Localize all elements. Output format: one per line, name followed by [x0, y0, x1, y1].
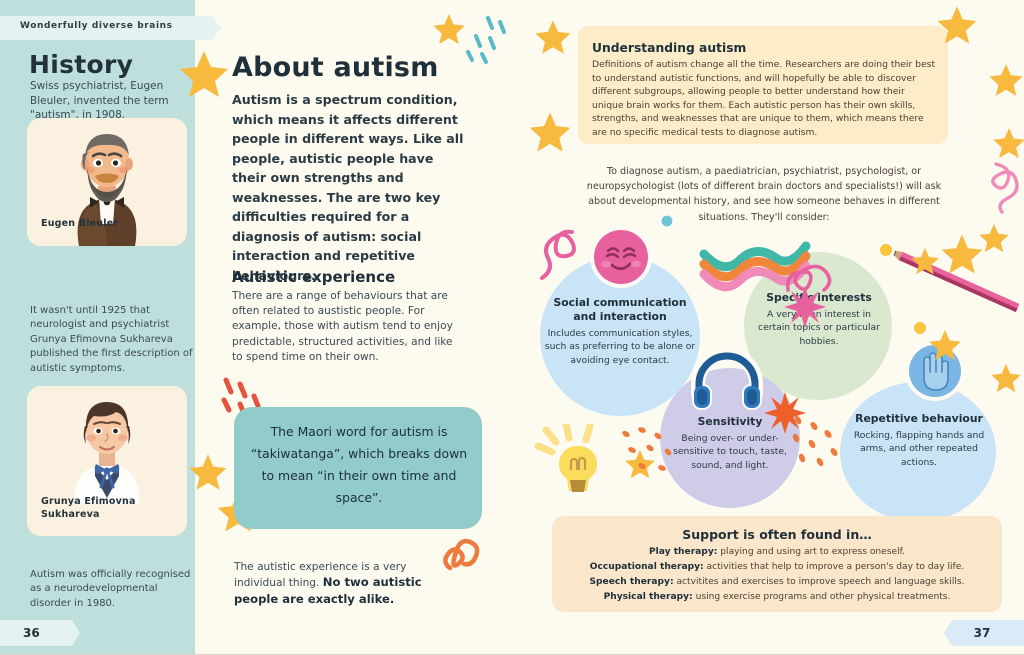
bubble-description: Includes communication styles, such as p… — [544, 327, 696, 367]
star-icon — [936, 4, 978, 46]
support-item-text: activities that help to improve a person… — [704, 562, 965, 572]
maori-quote-text: The Maori word for autism is “takiwatang… — [250, 421, 468, 509]
support-item-label: Physical therapy: — [604, 592, 693, 602]
starburst-decoration — [784, 286, 826, 328]
portrait-name-sukhareva: Grunya Efimovna Sukhareva — [41, 496, 187, 521]
about-heading-bold: autism — [334, 52, 439, 83]
headphones-icon — [690, 350, 764, 412]
squiggle-decoration — [986, 160, 1024, 214]
support-item-text: using exercise programs and other physic… — [693, 592, 951, 602]
support-item-label: Play therapy: — [649, 547, 717, 557]
about-heading-plain: About — [232, 52, 334, 83]
support-item: Occupational therapy: activities that he… — [552, 561, 1002, 574]
dot-sticker-decoration — [658, 212, 676, 230]
dot-sticker-decoration — [876, 240, 896, 260]
page-number-right: 37 — [952, 620, 1024, 646]
bubble-social-communication-text: Social communication and interaction Inc… — [544, 296, 696, 367]
star-icon — [188, 452, 228, 492]
portrait-name-bleuler: Eugen Bleuler — [41, 218, 118, 231]
support-item: Speech therapy: actvitites and exercises… — [552, 576, 1002, 589]
understanding-autism-text: Definitions of autism change all the tim… — [592, 58, 936, 140]
history-lead-text: Swiss psychiatrist, Eugen Bleuler, inven… — [30, 79, 195, 123]
portrait-card-sukhareva: Grunya Efimovna Sukhareva — [27, 386, 187, 536]
star-icon — [534, 18, 572, 56]
star-icon — [978, 222, 1010, 254]
portrait-card-bleuler: Eugen Bleuler — [27, 118, 187, 246]
support-item-label: Speech therapy: — [589, 577, 673, 587]
left-page: Wonderfully diverse brains History Swiss… — [0, 0, 512, 655]
squiggle-decoration — [524, 226, 584, 284]
star-icon — [988, 62, 1024, 98]
confetti-seeds-decoration — [788, 412, 868, 492]
right-page: Understanding autism Definitions of auti… — [512, 0, 1024, 655]
star-icon — [910, 246, 940, 276]
star-icon — [992, 126, 1024, 160]
dot-sticker-decoration — [910, 318, 930, 338]
support-item-text: playing and using art to express oneself… — [717, 547, 905, 557]
support-item: Physical therapy: using exercise program… — [552, 591, 1002, 604]
smiling-face-icon — [588, 224, 654, 290]
support-item-label: Occupational therapy: — [590, 562, 704, 572]
book-spread: Wonderfully diverse brains History Swiss… — [0, 0, 1024, 655]
understanding-autism-heading: Understanding autism — [592, 41, 746, 55]
page-number-left: 36 — [0, 620, 72, 646]
diagnosis-paragraph: To diagnose autism, a paediatrician, psy… — [580, 164, 948, 225]
about-body-text: Autism is a spectrum condition, which me… — [232, 90, 464, 285]
lightbulb-icon — [532, 424, 624, 516]
history-heading: History — [29, 50, 133, 79]
star-icon — [528, 110, 572, 154]
confetti-seeds-decoration — [616, 424, 686, 494]
support-item: Play therapy: playing and using art to e… — [552, 546, 1002, 559]
support-item-text: actvitites and exercises to improve spee… — [674, 577, 965, 587]
star-icon — [178, 48, 230, 100]
history-paragraph-3: Autism was officially recognised as a ne… — [30, 568, 197, 611]
star-icon — [432, 12, 466, 46]
bubble-heading: Social communication and interaction — [544, 296, 696, 324]
support-heading: Support is often found in… — [552, 527, 1002, 542]
autistic-experience-heading: Autistic experience — [232, 268, 395, 286]
about-heading: About autism — [232, 52, 439, 83]
autistic-experience-text: There are a range of behaviours that are… — [232, 289, 454, 365]
confetti-dashes-decoration — [462, 12, 510, 64]
closing-paragraph: The autistic experience is a very indivi… — [234, 560, 456, 608]
star-icon — [990, 362, 1022, 394]
chapter-banner-label: Wonderfully diverse brains — [20, 21, 210, 31]
star-icon — [928, 328, 962, 362]
history-paragraph-2: It wasn't until 1925 that neurologist an… — [30, 304, 197, 376]
